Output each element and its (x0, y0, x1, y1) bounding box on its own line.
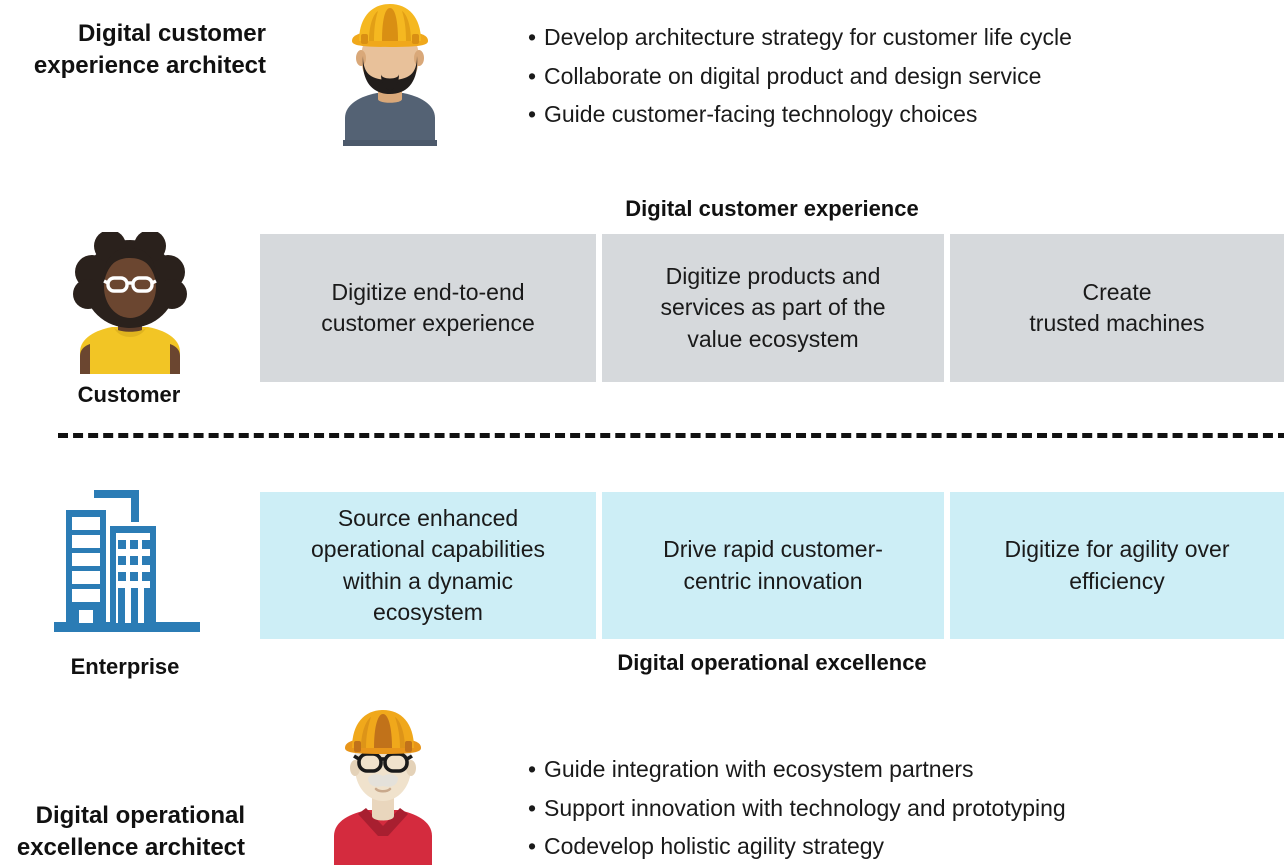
bullet-dot-icon: • (528, 57, 544, 96)
top-role-bullet-1-text: Develop architecture strategy for custom… (544, 24, 1072, 50)
enterprise-actor-label: Enterprise (15, 654, 235, 680)
enterprise-buildings-icon (52, 488, 202, 640)
enterprise-band-label: Digital operational excellence (260, 650, 1284, 676)
top-role-title: Digital customer experience architect (0, 18, 266, 83)
bullet-dot-icon: • (528, 18, 544, 57)
top-role-bullet-3: •Guide customer-facing technology choice… (528, 95, 1072, 134)
digital-operational-excellence-architect-avatar (318, 704, 448, 865)
top-role-bullet-3-text: Guide customer-facing technology choices (544, 101, 977, 127)
bottom-role-bullet-1: •Guide integration with ecosystem partne… (528, 750, 1066, 789)
customer-box-2[interactable]: Digitize products and services as part o… (602, 234, 944, 382)
customer-avatar (66, 232, 194, 374)
bottom-role-bullet-3: •Codevelop holistic agility strategy (528, 827, 1066, 865)
customer-box-1[interactable]: Digitize end-to-end customer experience (260, 234, 596, 382)
top-role-bullet-2: •Collaborate on digital product and desi… (528, 57, 1072, 96)
bottom-role-bullet-2-text: Support innovation with technology and p… (544, 795, 1066, 821)
top-role-bullets: •Develop architecture strategy for custo… (528, 18, 1072, 134)
bullet-dot-icon: • (528, 95, 544, 134)
bullet-dot-icon: • (528, 827, 544, 865)
customer-box-3[interactable]: Create trusted machines (950, 234, 1284, 382)
bullet-dot-icon: • (528, 789, 544, 828)
bottom-role-bullet-1-text: Guide integration with ecosystem partner… (544, 756, 974, 782)
bullet-dot-icon: • (528, 750, 544, 789)
diagram-canvas: Digital customer experience architect (0, 0, 1284, 865)
top-role-bullet-2-text: Collaborate on digital product and desig… (544, 63, 1041, 89)
customer-band-label: Digital customer experience (260, 196, 1284, 222)
top-role-bullet-1: •Develop architecture strategy for custo… (528, 18, 1072, 57)
bottom-role-bullet-2: •Support innovation with technology and … (528, 789, 1066, 828)
bottom-role-bullets: •Guide integration with ecosystem partne… (528, 750, 1066, 865)
customer-enterprise-divider (58, 433, 1284, 438)
bottom-role-title: Digital operational excellence architect (0, 800, 245, 865)
enterprise-box-3[interactable]: Digitize for agility over efficiency (950, 492, 1284, 639)
bottom-role-bullet-3-text: Codevelop holistic agility strategy (544, 833, 884, 859)
digital-customer-experience-architect-avatar (325, 0, 455, 146)
enterprise-box-2[interactable]: Drive rapid customer- centric innovation (602, 492, 944, 639)
customer-actor-label: Customer (19, 382, 239, 408)
enterprise-box-1[interactable]: Source enhanced operational capabilities… (260, 492, 596, 639)
